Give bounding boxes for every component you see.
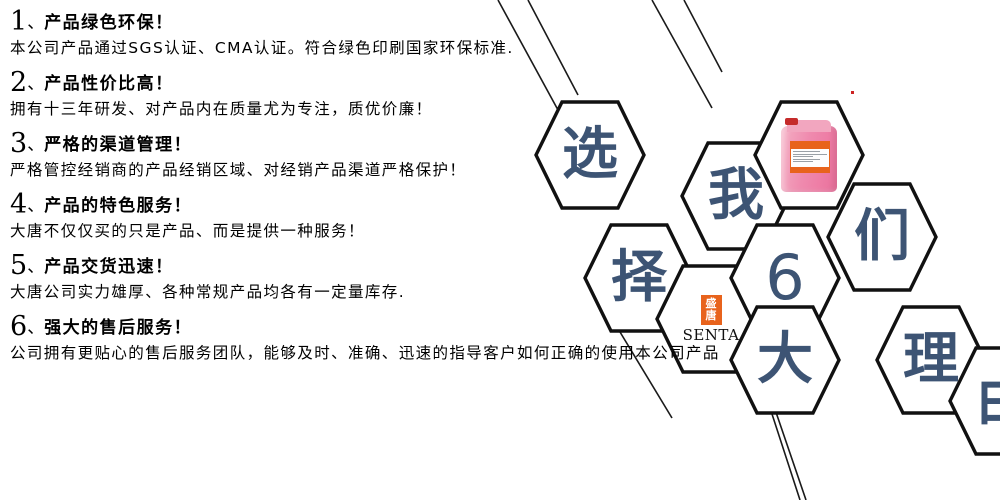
feature-separator: 、 xyxy=(27,318,44,338)
feature-number: 4 xyxy=(10,189,27,220)
feature-heading: 6、强大的售后服务！ xyxy=(10,313,710,340)
feature-title: 产品交货迅速！ xyxy=(44,257,174,277)
hexagon-label-da: 大 xyxy=(729,304,841,416)
jug-label-footer xyxy=(791,167,829,172)
feature-description: 公司拥有更贴心的售后服务团队，能够及时、准确、迅速的指导客户如何正确的使用本公司… xyxy=(10,345,710,362)
feature-heading: 4、产品的特色服务！ xyxy=(10,191,710,218)
feature-item: 5、产品交货迅速！大唐公司实力雄厚、各种常规产品均各有一定量库存. xyxy=(10,252,710,301)
feature-separator: 、 xyxy=(27,13,44,33)
feature-description: 严格管控经销商的产品经销区域、对经销产品渠道严格保护！ xyxy=(10,162,710,179)
feature-item: 3、严格的渠道管理！严格管控经销商的产品经销区域、对经销产品渠道严格保护！ xyxy=(10,130,710,179)
feature-separator: 、 xyxy=(27,135,44,155)
feature-heading: 1、产品绿色环保！ xyxy=(10,8,710,35)
product-photo xyxy=(753,99,865,211)
feature-heading: 2、产品性价比高！ xyxy=(10,69,710,96)
hexagon-label-you: 由 xyxy=(948,345,1000,457)
feature-item: 2、产品性价比高！拥有十三年研发、对产品内在质量尤为专注，质优价廉！ xyxy=(10,69,710,118)
feature-separator: 、 xyxy=(27,74,44,94)
feature-heading: 3、严格的渠道管理！ xyxy=(10,130,710,157)
feature-description: 大唐公司实力雄厚、各种常规产品均各有一定量库存. xyxy=(10,284,710,301)
feature-list: 1、产品绿色环保！本公司产品通过SGS认证、CMA认证。符合绿色印刷国家环保标准… xyxy=(10,8,710,374)
feature-number: 6 xyxy=(10,311,27,342)
feature-heading: 5、产品交货迅速！ xyxy=(10,252,710,279)
feature-description: 本公司产品通过SGS认证、CMA认证。符合绿色印刷国家环保标准. xyxy=(10,40,710,57)
jug-cap xyxy=(785,118,798,125)
feature-separator: 、 xyxy=(27,257,44,277)
jug-label-textlines xyxy=(791,149,829,162)
feature-number: 1 xyxy=(10,6,27,37)
feature-separator: 、 xyxy=(27,196,44,216)
feature-description: 拥有十三年研发、对产品内在质量尤为专注，质优价廉！ xyxy=(10,101,710,118)
feature-item: 6、强大的售后服务！公司拥有更贴心的售后服务团队，能够及时、准确、迅速的指导客户… xyxy=(10,313,710,362)
feature-number: 5 xyxy=(10,250,27,281)
feature-number: 2 xyxy=(10,67,27,98)
jug-label-header xyxy=(791,142,829,149)
feature-title: 产品性价比高！ xyxy=(44,74,174,94)
feature-number: 3 xyxy=(10,128,27,159)
feature-description: 大唐不仅仅买的只是产品、而是提供一种服务！ xyxy=(10,223,710,240)
feature-title: 产品的特色服务！ xyxy=(44,196,192,216)
feature-title: 产品绿色环保！ xyxy=(44,13,174,33)
feature-title: 严格的渠道管理！ xyxy=(44,135,192,155)
product-jerry-can-icon xyxy=(781,118,837,192)
feature-item: 4、产品的特色服务！大唐不仅仅买的只是产品、而是提供一种服务！ xyxy=(10,191,710,240)
poster-canvas: 1、产品绿色环保！本公司产品通过SGS认证、CMA认证。符合绿色印刷国家环保标准… xyxy=(0,0,1000,500)
hexagon-da: 大 xyxy=(729,304,841,416)
feature-title: 强大的售后服务！ xyxy=(44,318,192,338)
feature-item: 1、产品绿色环保！本公司产品通过SGS认证、CMA认证。符合绿色印刷国家环保标准… xyxy=(10,8,710,57)
hexagon-you: 由 xyxy=(948,345,1000,457)
hexagon-product xyxy=(753,99,865,211)
red-speck-artifact xyxy=(851,91,854,94)
jug-label xyxy=(790,141,830,173)
